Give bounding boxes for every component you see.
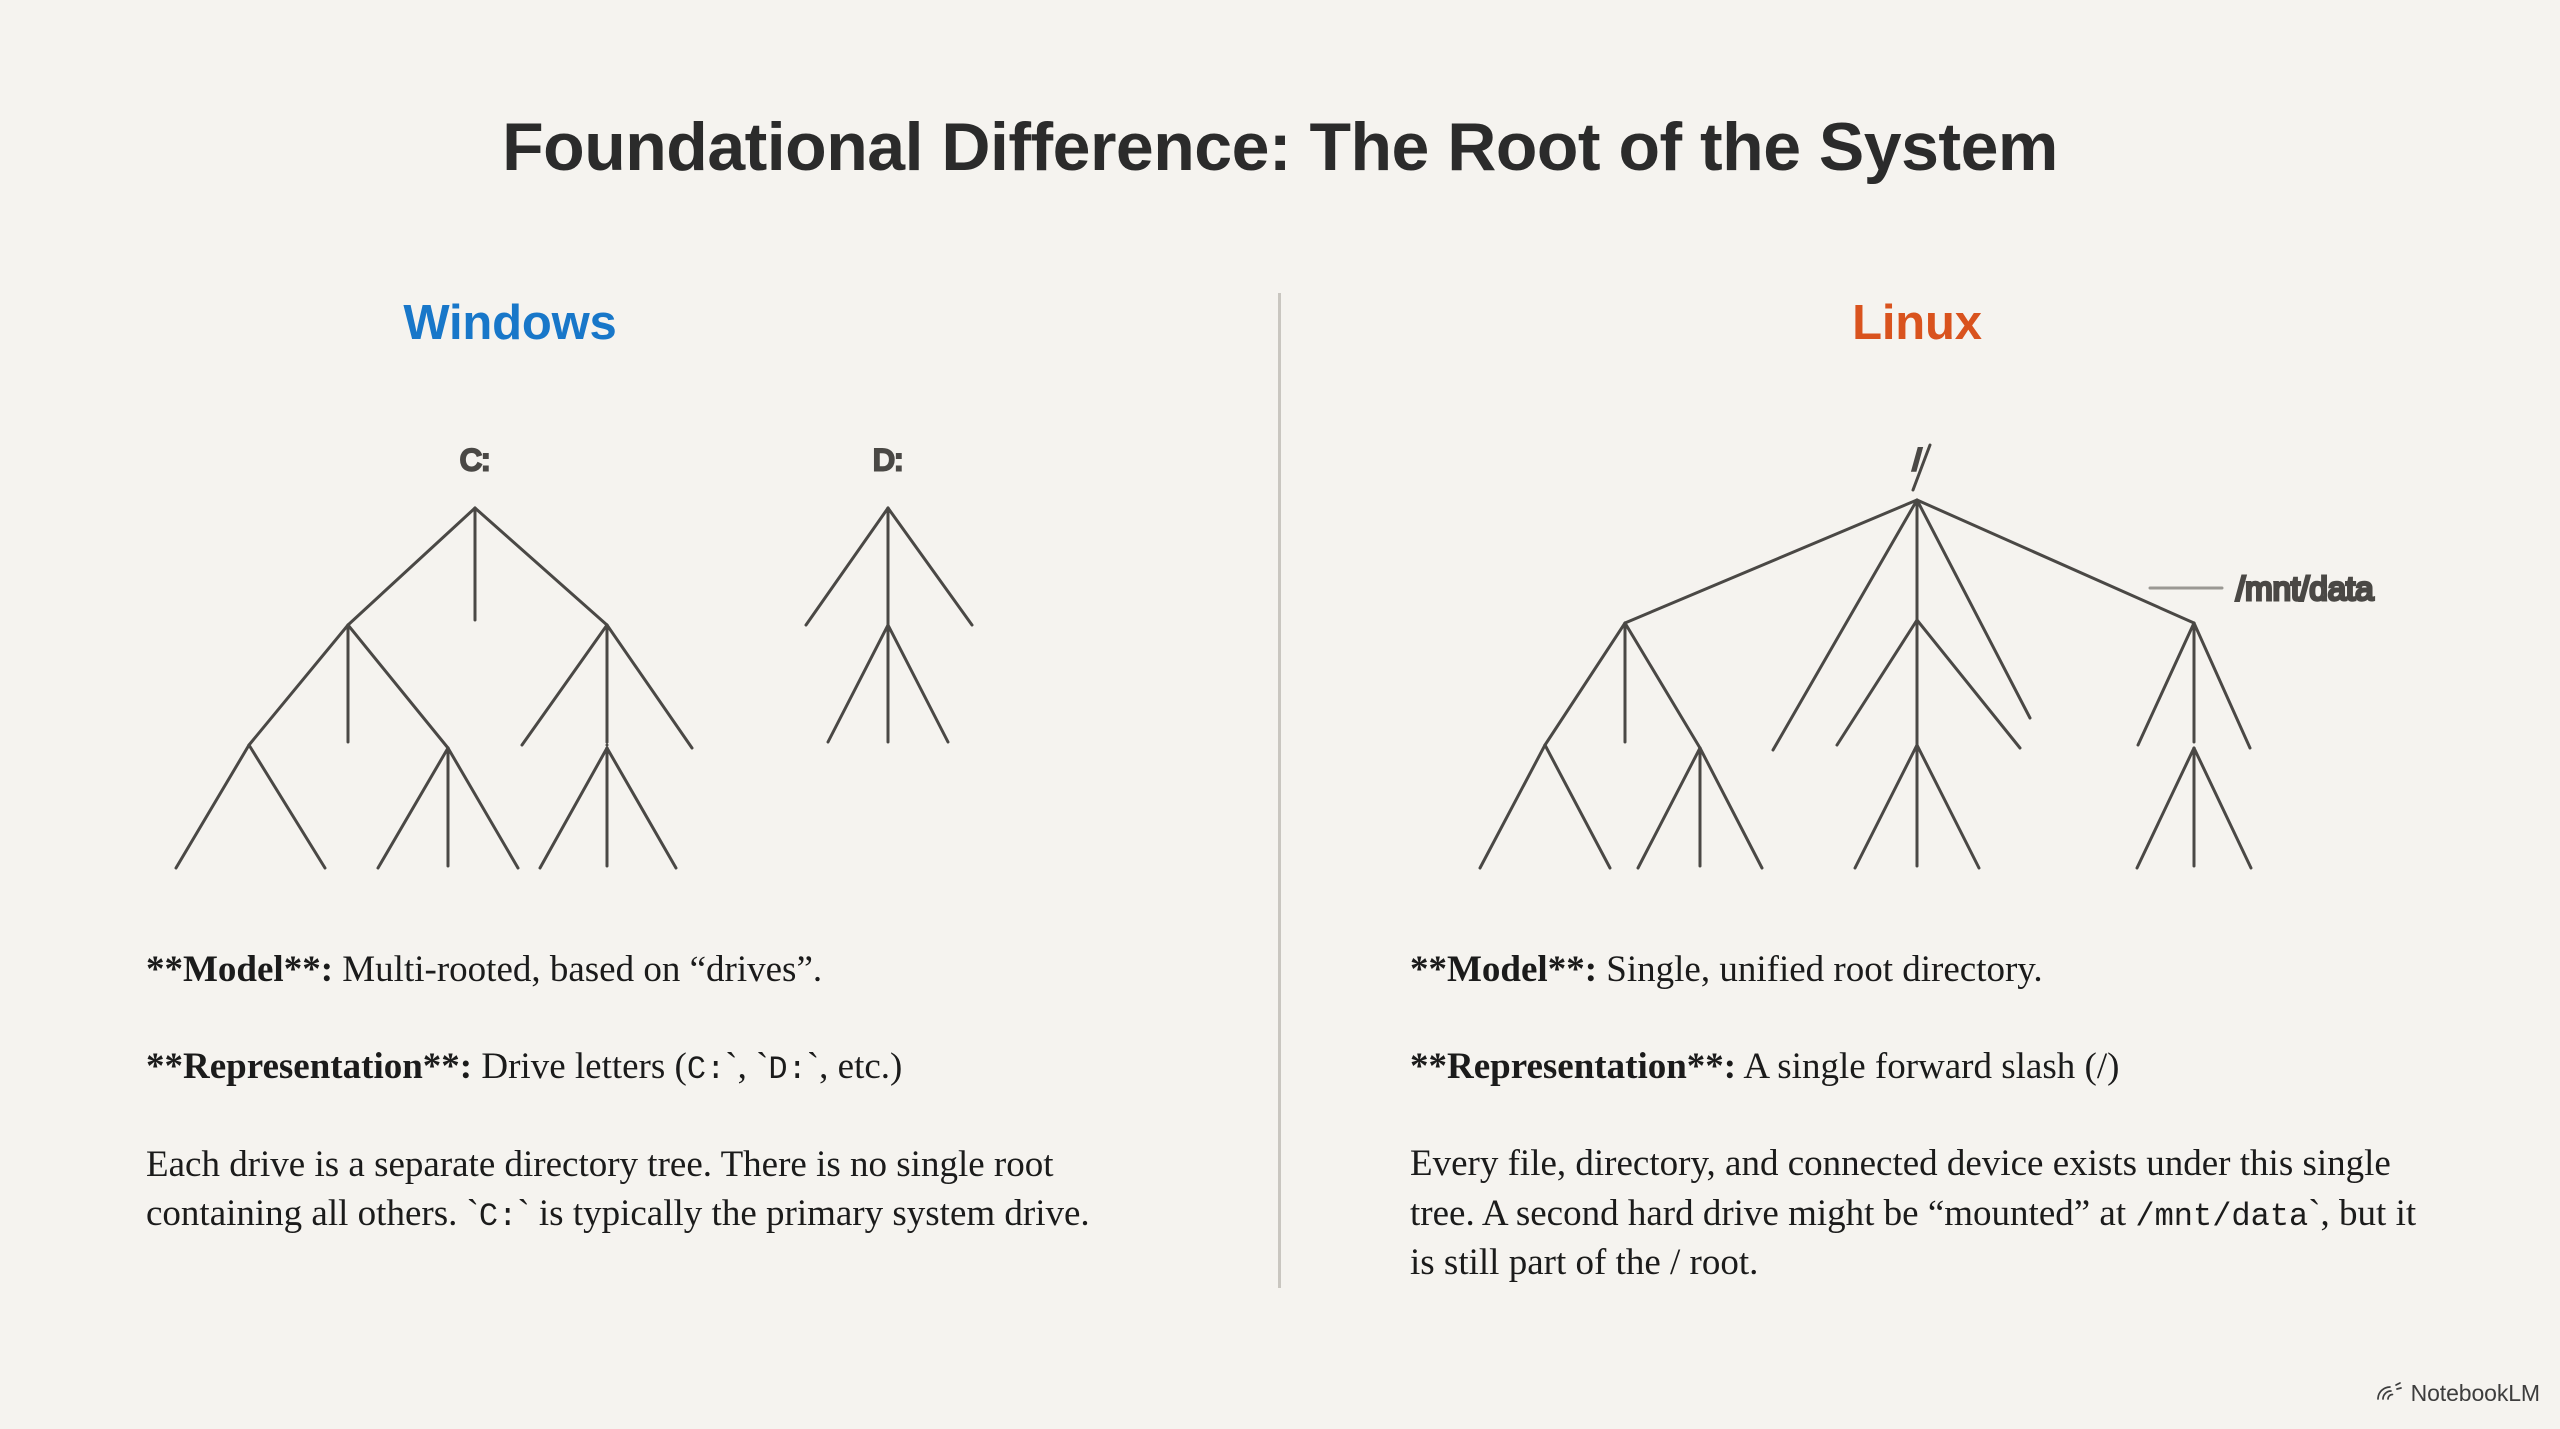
windows-model-label: **Model**: [146,949,333,990]
windows-drive-code-c: C: [687,1051,725,1088]
windows-representation-text-1: Drive letters ( [472,1046,687,1087]
paragraph-linux-model: **Model**: Single, unified root director… [1410,945,2435,994]
linux-model-text: Single, unified root directory. [1597,949,2043,990]
tree-label-c-drive: C: [460,444,490,477]
tree-d-drive [806,508,972,742]
tree-label-d-drive: D: [873,444,903,477]
linux-representation-label: **Representation**: [1410,1046,1736,1087]
paragraph-windows-representation: **Representation**: Drive letters (C:`, … [146,1042,1156,1092]
tree-label-linux-root: / [1913,444,1922,477]
linux-model-label: **Model**: [1410,949,1597,990]
tree-linux-root [1480,445,2251,868]
notebooklm-spiral-icon [2376,1381,2402,1406]
notebooklm-watermark: NotebookLM [2376,1380,2540,1407]
notebooklm-watermark-label: NotebookLM [2411,1380,2540,1407]
windows-representation-text-3: `, etc.) [807,1046,903,1087]
paragraph-windows-model: **Model**: Multi-rooted, based on “drive… [146,945,1156,994]
windows-representation-text-2: `, ` [725,1046,768,1087]
linux-detail-code: /mnt/data [2135,1198,2308,1235]
body-text-linux: **Model**: Single, unified root director… [1410,945,2435,1287]
paragraph-linux-representation: **Representation**: A single forward sla… [1410,1042,2435,1091]
body-text-windows: **Model**: Multi-rooted, based on “drive… [146,945,1156,1239]
slide-canvas: Foundational Difference: The Root of the… [0,0,2560,1429]
tree-c-drive [176,508,692,868]
paragraph-windows-detail: Each drive is a separate directory tree.… [146,1140,1156,1239]
linux-representation-text: A single forward slash (/) [1736,1046,2119,1087]
windows-model-text: Multi-rooted, based on “drives”. [333,949,822,990]
windows-drive-code-d: D: [768,1051,806,1088]
windows-detail-code: C: [479,1198,517,1235]
mount-point-label: /mnt/data [2236,570,2374,607]
windows-representation-label: **Representation**: [146,1046,472,1087]
windows-detail-text-2: ` is typically the primary system drive. [517,1193,1089,1234]
paragraph-linux-detail: Every file, directory, and connected dev… [1410,1139,2435,1287]
